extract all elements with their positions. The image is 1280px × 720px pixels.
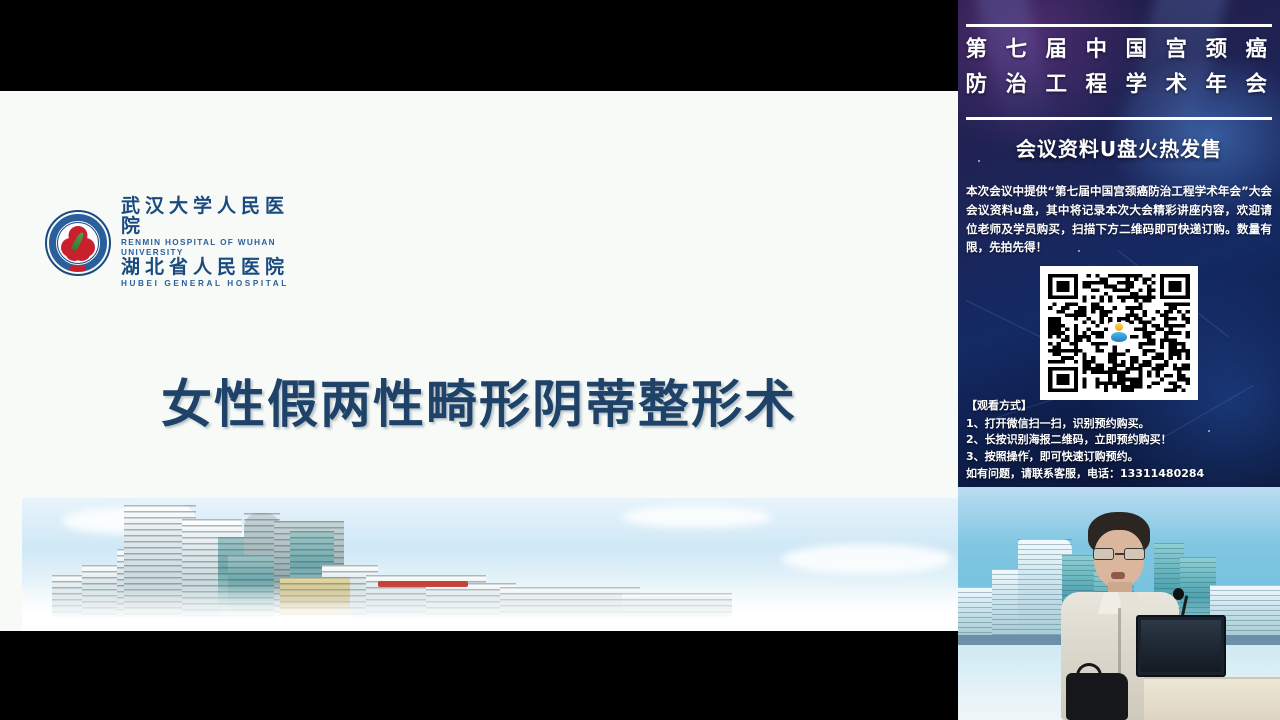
hospital-logo: 武汉大学人民医院 RENMIN HOSPITAL OF WUHAN UNIVER… xyxy=(45,207,290,279)
hospital-name-en-secondary: HUBEI GENERAL HOSPITAL xyxy=(121,279,290,289)
instruction-step-2: 2、长按识别海报二维码，立即预约购买！ xyxy=(966,432,1276,449)
wechat-qr-code[interactable] xyxy=(1040,266,1198,400)
conference-promo-poster: 第 七 届 中 国 宫 颈 癌 防 治 工 程 学 术 年 会 会议资料U盘火热… xyxy=(958,0,1280,487)
support-contact-line: 如有问题，请联系客服，电话：13311480284 xyxy=(966,466,1276,483)
slide-title: 女性假两性畸形阴蒂整形术 xyxy=(0,363,958,437)
promo-instructions: 【观看方式】 1、打开微信扫一扫，识别预约购买。 2、长按识别海报二维码，立即预… xyxy=(966,398,1276,483)
conference-title-line-2: 防 治 工 程 学 术 年 会 xyxy=(958,68,1280,103)
instruction-step-1: 1、打开微信扫一扫，识别预约购买。 xyxy=(966,416,1276,433)
conference-title: 第 七 届 中 国 宫 颈 癌 防 治 工 程 学 术 年 会 xyxy=(958,33,1280,103)
podium-bag xyxy=(1066,673,1128,720)
instructions-title: 【观看方式】 xyxy=(966,398,1276,415)
hospital-building-photo xyxy=(22,498,958,631)
slide-viewer[interactable]: 武汉大学人民医院 RENMIN HOSPITAL OF WUHAN UNIVER… xyxy=(0,0,958,720)
right-side-panel: 第 七 届 中 国 宫 颈 癌 防 治 工 程 学 术 年 会 会议资料U盘火热… xyxy=(958,0,1280,720)
poster-divider-middle xyxy=(966,117,1272,120)
microphone-icon xyxy=(1173,588,1184,600)
instruction-step-3: 3、按照操作，即可快速订购预约。 xyxy=(966,449,1276,466)
lectern xyxy=(1144,677,1280,720)
presentation-slide: 武汉大学人民医院 RENMIN HOSPITAL OF WUHAN UNIVER… xyxy=(0,91,958,631)
screen-root: 武汉大学人民医院 RENMIN HOSPITAL OF WUHAN UNIVER… xyxy=(0,0,1280,720)
promo-headline: 会议资料U盘火热发售 xyxy=(958,133,1280,162)
wechat-person-icon xyxy=(1108,322,1130,344)
promo-body-text: 本次会议中提供“第七届中国宫颈癌防治工程学术年会”大会会议资料u盘，其中将记录本… xyxy=(966,182,1272,257)
conference-title-line-1: 第 七 届 中 国 宫 颈 癌 xyxy=(958,33,1280,68)
laptop xyxy=(1136,615,1226,677)
hospital-name-cn-secondary: 湖北省人民医院 xyxy=(121,258,290,278)
eyeglasses-icon xyxy=(1092,548,1146,560)
qr-code-container[interactable] xyxy=(959,266,1279,400)
hospital-name-en-primary: RENMIN HOSPITAL OF WUHAN UNIVERSITY xyxy=(121,238,290,258)
speaker-video-feed[interactable] xyxy=(958,487,1280,720)
hospital-emblem-icon xyxy=(45,210,111,276)
hospital-logo-text: 武汉大学人民医院 RENMIN HOSPITAL OF WUHAN UNIVER… xyxy=(121,197,290,289)
hospital-name-cn-primary: 武汉大学人民医院 xyxy=(121,197,290,237)
poster-divider-top xyxy=(966,24,1272,27)
